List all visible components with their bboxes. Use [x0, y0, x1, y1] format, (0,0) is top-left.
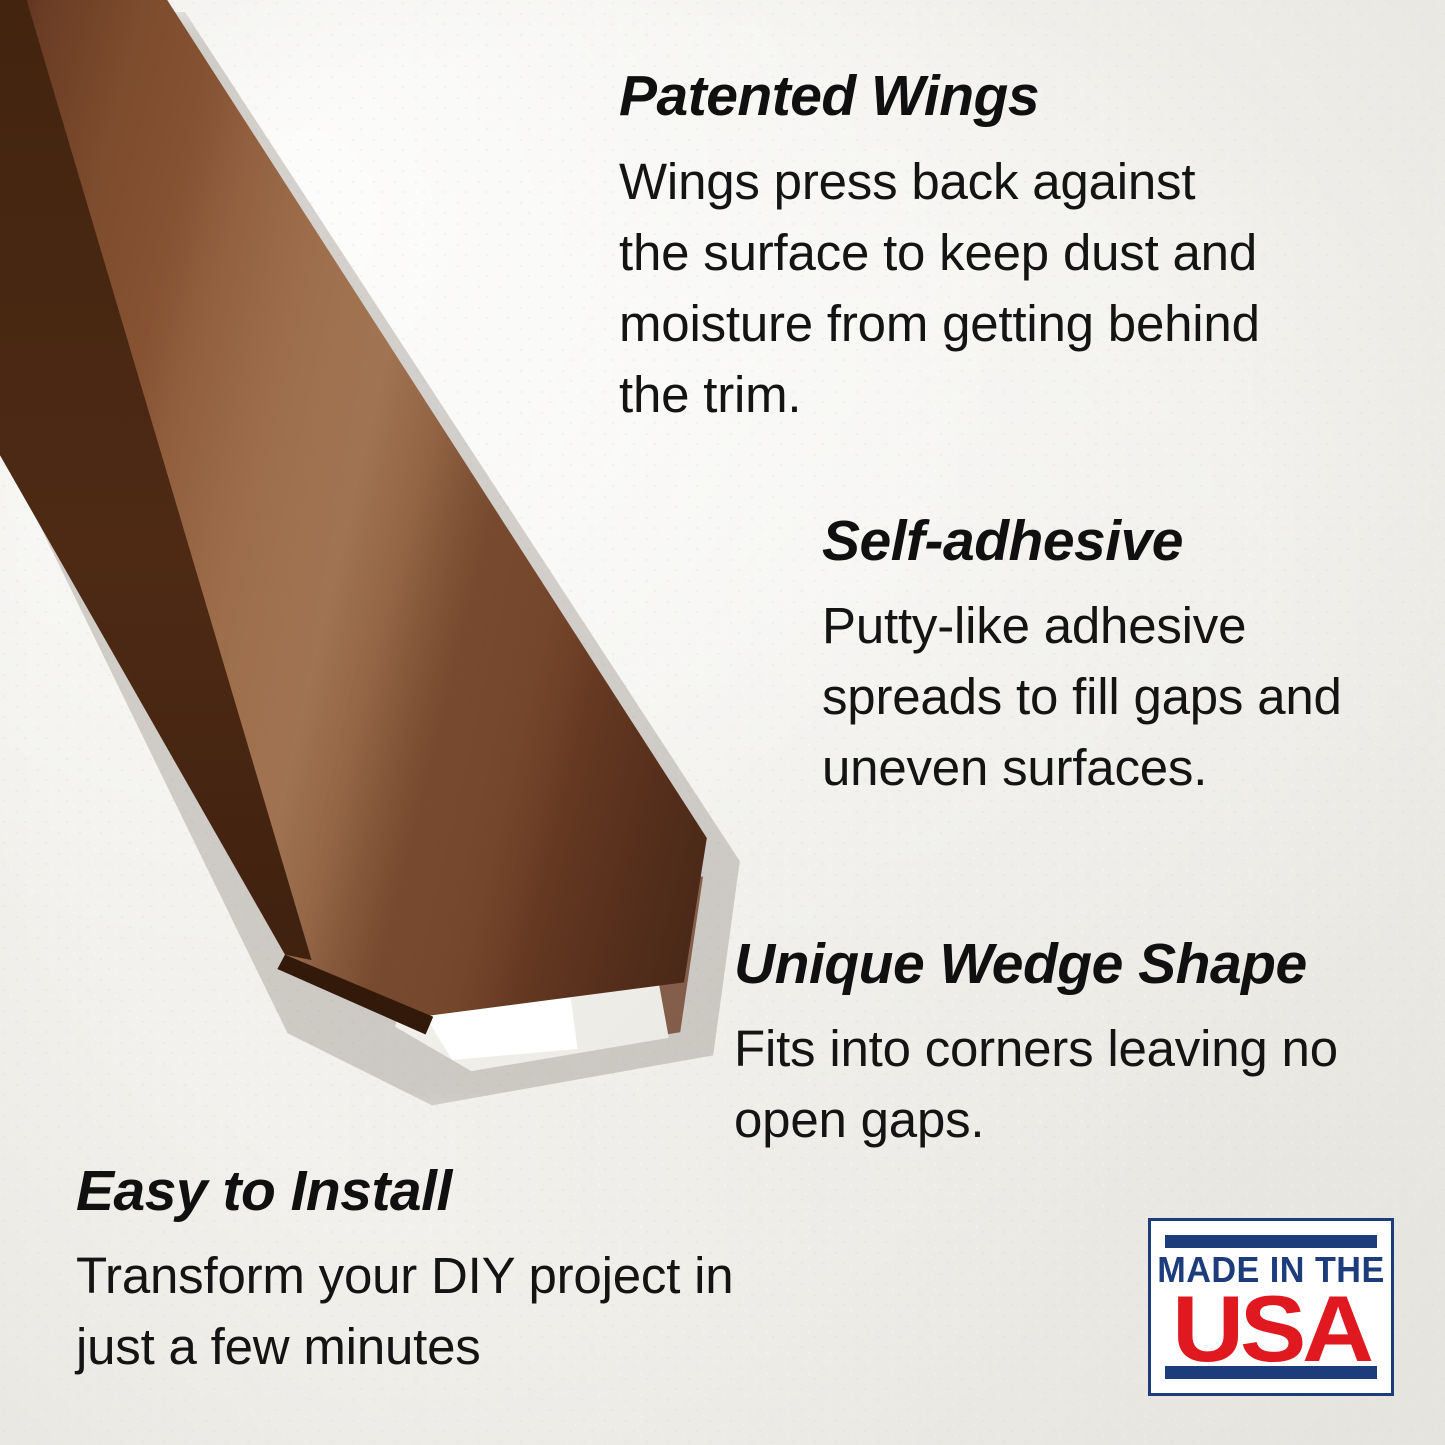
feature-block-easy-to-install: Easy to Install Transform your DIY proje… — [76, 1163, 756, 1382]
feature-body-self-adhesive: Putty-like adhesive spreads to fill gaps… — [822, 590, 1382, 803]
feature-block-self-adhesive: Self-adhesive Putty-like adhesive spread… — [822, 513, 1382, 803]
feature-heading-patented-wings: Patented Wings — [619, 68, 1279, 125]
feature-heading-easy-to-install: Easy to Install — [76, 1163, 756, 1220]
infographic-canvas: Patented Wings Wings press back against … — [0, 0, 1445, 1445]
feature-body-easy-to-install: Transform your DIY project in just a few… — [76, 1240, 756, 1382]
badge-bottom-bar — [1165, 1366, 1377, 1379]
badge-top-bar — [1165, 1235, 1377, 1248]
made-in-usa-badge: MADE IN THE USA — [1148, 1218, 1394, 1396]
feature-heading-self-adhesive: Self-adhesive — [822, 513, 1382, 570]
feature-body-patented-wings: Wings press back against the surface to … — [619, 146, 1279, 430]
feature-heading-unique-wedge-shape: Unique Wedge Shape — [734, 936, 1404, 993]
feature-block-patented-wings: Patented Wings Wings press back against … — [619, 68, 1279, 430]
feature-body-unique-wedge-shape: Fits into corners leaving no open gaps. — [734, 1013, 1404, 1155]
badge-usa-text: USA — [1148, 1283, 1394, 1375]
feature-block-unique-wedge-shape: Unique Wedge Shape Fits into corners lea… — [734, 936, 1404, 1155]
